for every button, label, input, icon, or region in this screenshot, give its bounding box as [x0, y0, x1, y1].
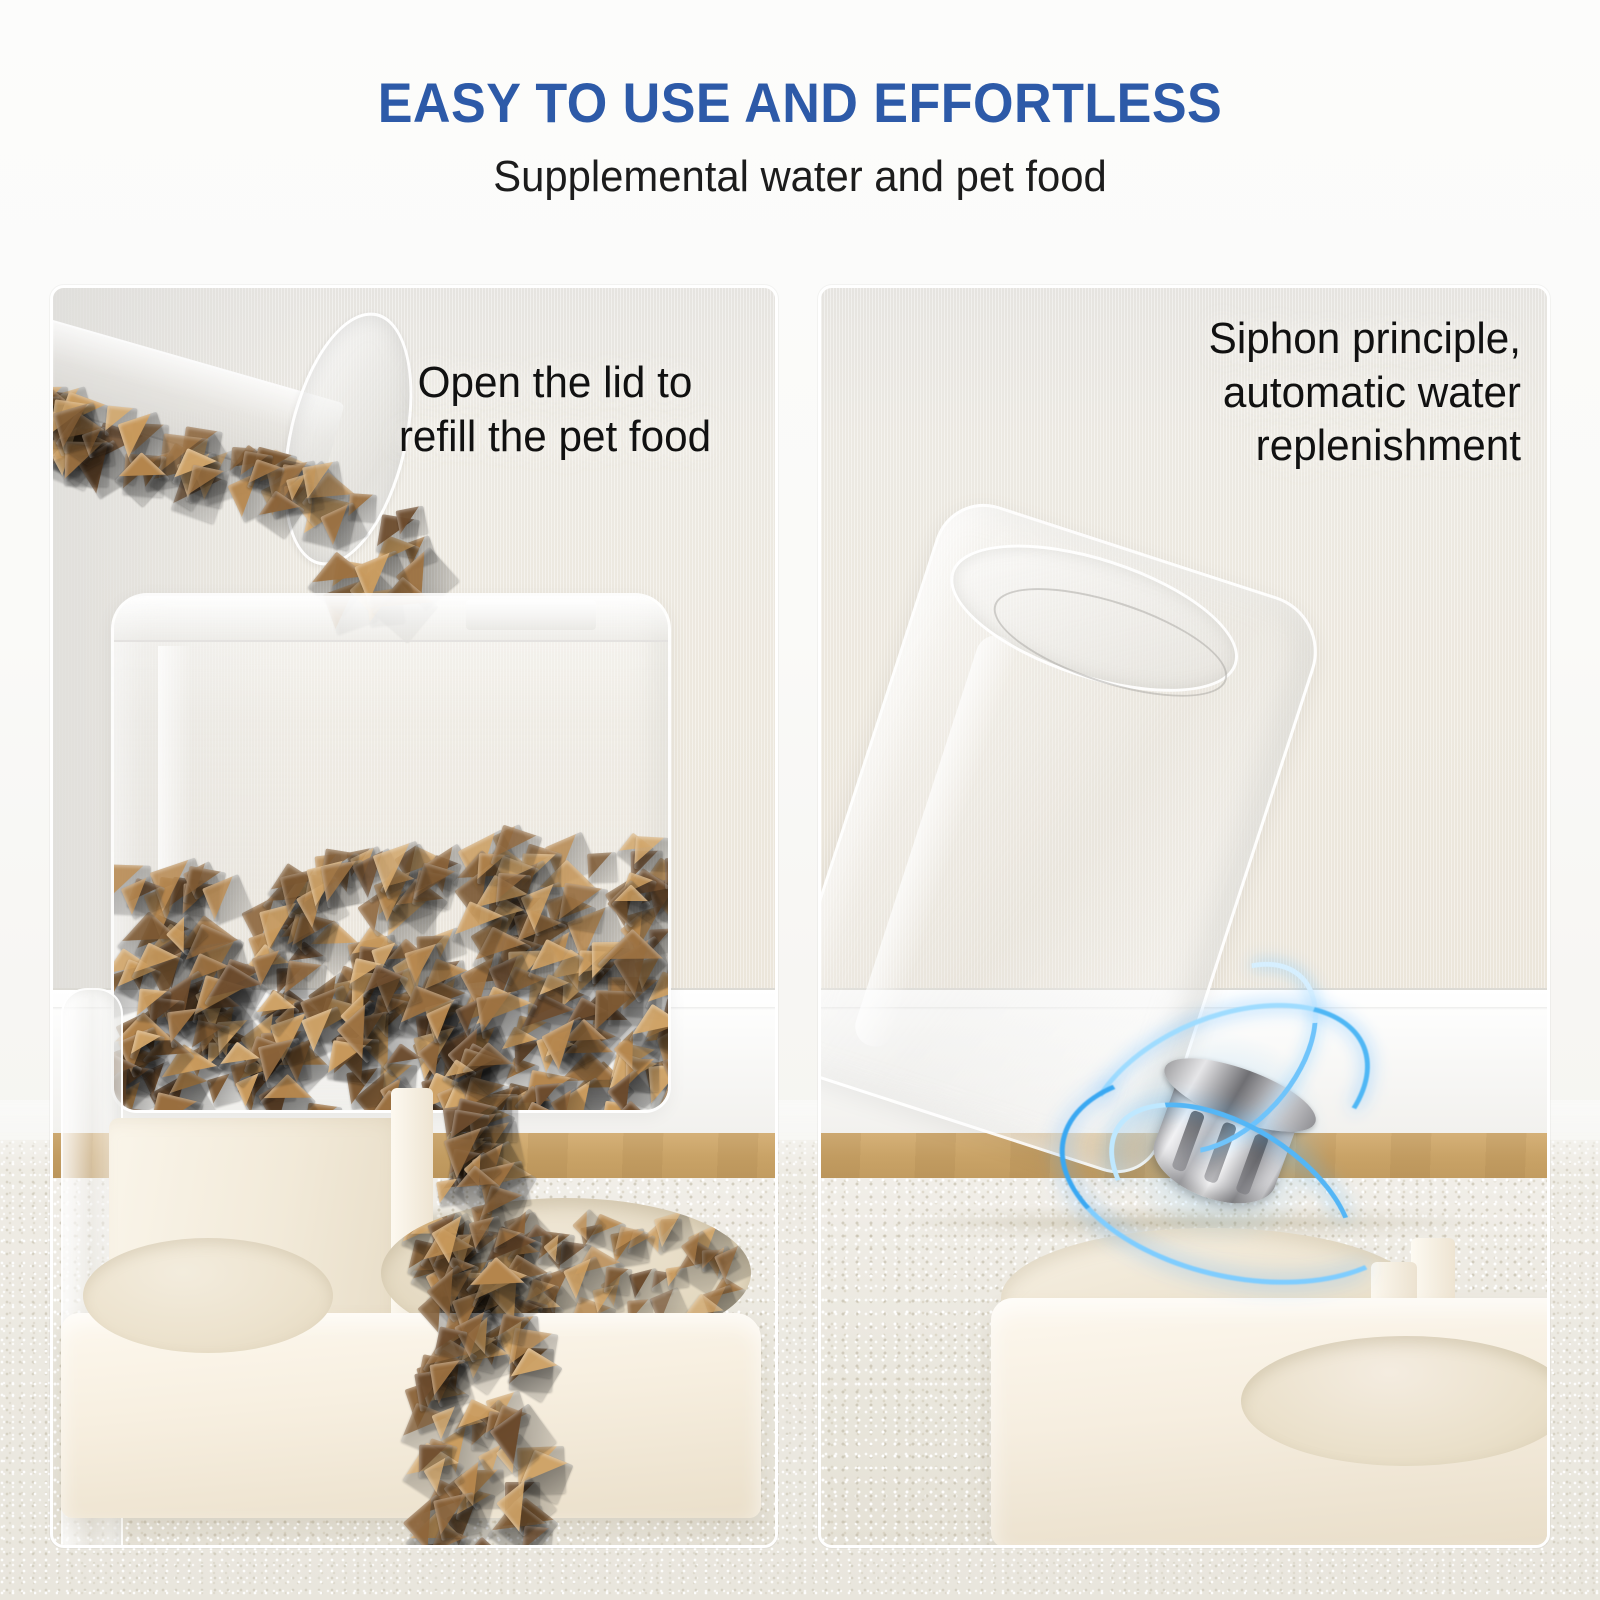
valve-slot — [1203, 1121, 1237, 1184]
kibble-piece — [321, 859, 369, 907]
jar-cap — [114, 596, 668, 642]
callout-left-line-2: refill the pet food — [399, 412, 711, 461]
callout-left-line-1: Open the lid to — [418, 358, 693, 407]
kibble-piece — [136, 989, 171, 1024]
callout-text-left: Open the lid to refill the pet food — [363, 356, 747, 463]
food-bowl-front — [1241, 1336, 1550, 1466]
infographic-canvas: EASY TO USE AND EFFORTLESS Supplemental … — [0, 0, 1600, 1600]
kibble-piece — [587, 852, 618, 883]
header: EASY TO USE AND EFFORTLESS Supplemental … — [0, 0, 1600, 285]
panel-water-siphon[interactable]: Siphon principle, automatic water replen… — [818, 285, 1550, 1548]
feeder-base-right — [991, 1228, 1550, 1548]
bottle-rim-inner — [982, 566, 1239, 719]
kibble-piece — [496, 873, 532, 909]
kibble-piece — [186, 465, 230, 509]
jar-cap-notch — [466, 600, 596, 630]
kibble-piece — [396, 506, 429, 539]
callout-right-line-3: replenishment — [1256, 421, 1521, 470]
clear-food-container — [111, 593, 671, 1113]
callout-text-right: Siphon principle, automatic water replen… — [1099, 312, 1521, 473]
kibble-piece — [167, 1008, 207, 1048]
kibble-piece — [302, 461, 345, 504]
kibble-piece — [435, 1326, 468, 1359]
kibble-piece — [634, 836, 668, 870]
panel-food-refill[interactable]: Open the lid to refill the pet food — [50, 285, 778, 1548]
valve-slot — [1235, 1133, 1269, 1196]
kibble-piece — [429, 1359, 470, 1400]
callout-right-line-2: automatic water — [1223, 368, 1521, 417]
page-subtitle: Supplemental water and pet food — [40, 153, 1560, 201]
kibble-piece — [433, 1492, 482, 1541]
water-bowl — [83, 1238, 333, 1353]
falling-kibble-stream — [353, 1048, 653, 1548]
page-title: EASY TO USE AND EFFORTLESS — [56, 74, 1544, 133]
valve-slot — [1171, 1110, 1205, 1173]
callout-right-line-1: Siphon principle, — [1209, 314, 1521, 363]
